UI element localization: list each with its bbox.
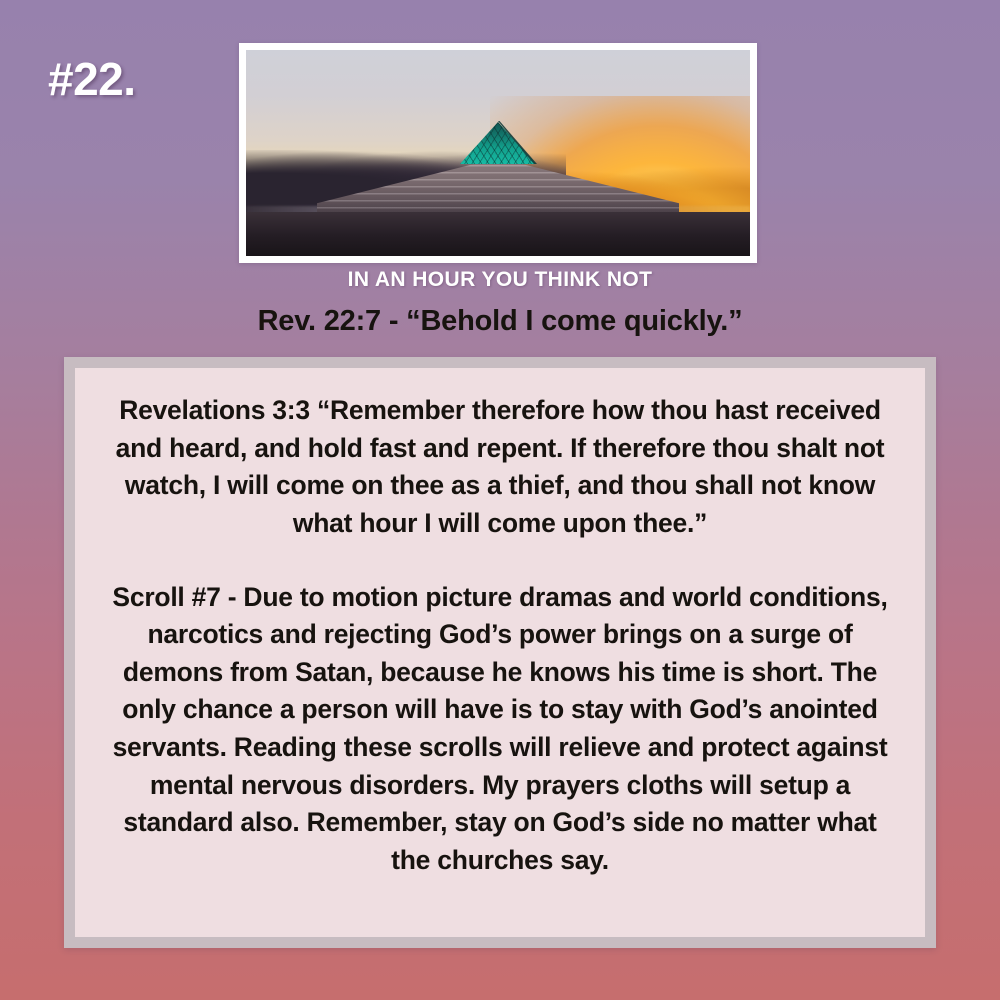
scroll-paragraph: Revelations 3:3 “Remember therefore how … [103, 392, 897, 543]
photo-frame [239, 43, 757, 263]
scroll-text-inner: Revelations 3:3 “Remember therefore how … [75, 368, 925, 937]
issue-number-label: #22. [48, 56, 136, 102]
foreground-ground-layer [246, 212, 750, 256]
caption-kicker: IN AN HOUR YOU THINK NOT [0, 268, 1000, 292]
scroll-paragraph: Scroll #7 - Due to motion picture dramas… [103, 579, 897, 880]
caption-verse: Rev. 22:7 - “Behold I come quickly.” [0, 305, 1000, 338]
scroll-text-panel: Revelations 3:3 “Remember therefore how … [64, 357, 936, 948]
poster-canvas: #22. IN AN HOUR YOU THINK NOT Rev. 22:7 … [0, 0, 1000, 1000]
sunset-pyramid-photo [246, 50, 750, 256]
